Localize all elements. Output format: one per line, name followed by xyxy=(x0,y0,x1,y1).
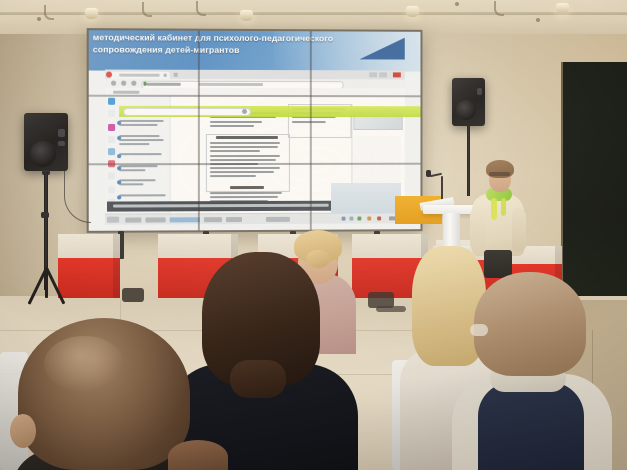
sidebar-item-label-wrap xyxy=(119,124,157,126)
ceiling-spotlight xyxy=(556,3,569,14)
browser-chrome xyxy=(105,70,405,97)
conference-hall-photo: методический кабинет для психолого-педаг… xyxy=(0,0,627,470)
sidebar-item-label xyxy=(119,153,161,155)
start-button[interactable] xyxy=(107,217,119,223)
sidebar-item-1[interactable] xyxy=(119,120,165,128)
pa-speaker-left xyxy=(24,113,68,171)
bookmark-item[interactable] xyxy=(113,90,139,93)
minimize-icon[interactable] xyxy=(369,72,377,77)
tray-icon[interactable] xyxy=(377,216,381,220)
speaker-cone xyxy=(456,100,476,120)
sidebar-item-label xyxy=(119,194,165,197)
pa-speaker-right xyxy=(452,78,485,126)
maximize-icon[interactable] xyxy=(379,72,387,77)
taskbar-item[interactable] xyxy=(226,217,242,222)
search-icon[interactable] xyxy=(242,108,247,113)
audience-elderly-vest xyxy=(452,278,612,470)
sidebar-icon[interactable] xyxy=(108,186,115,193)
favicon-icon xyxy=(105,71,111,77)
sidebar-item-label-wrap xyxy=(119,183,143,185)
sidebar-icon[interactable] xyxy=(108,136,115,143)
sidebar-icon-top[interactable] xyxy=(108,98,115,105)
sidebar-item-4[interactable] xyxy=(119,165,165,173)
sidebar-item-6[interactable] xyxy=(119,194,165,198)
tray-icon[interactable] xyxy=(342,217,346,221)
audience-partial-head xyxy=(168,440,228,470)
close-icon[interactable] xyxy=(164,74,167,77)
panel-bezel-seam xyxy=(198,29,200,233)
address-bar-text xyxy=(146,83,180,86)
plus-icon[interactable] xyxy=(174,72,178,76)
ceiling-spotlight xyxy=(406,6,419,17)
sidebar-icon[interactable] xyxy=(108,148,115,155)
taskbar-item[interactable] xyxy=(125,217,141,222)
taskbar-item[interactable] xyxy=(266,216,290,221)
sidebar-item-label-wrap xyxy=(119,169,145,171)
tray-icon[interactable] xyxy=(367,216,371,220)
taskbar-item[interactable] xyxy=(204,217,222,222)
sidebar-item-label xyxy=(119,165,157,167)
floor-equipment xyxy=(122,288,144,302)
speaker-stand-clamp xyxy=(41,212,49,218)
close-icon[interactable] xyxy=(393,72,401,77)
audience-woman-dark-hair xyxy=(178,256,346,470)
ceiling-spotlight xyxy=(85,8,98,19)
eyeglasses-icon xyxy=(470,324,488,336)
projection-panel xyxy=(331,183,401,213)
speaker-port xyxy=(58,129,65,137)
presenter-sleeve-left xyxy=(470,206,486,252)
ceiling-fixture-dot xyxy=(455,2,459,6)
plinth-block xyxy=(58,234,120,298)
reload-icon[interactable] xyxy=(131,81,136,86)
forward-arrow-icon[interactable] xyxy=(121,81,126,86)
browser-tab[interactable] xyxy=(111,71,170,79)
browser-tab-title xyxy=(119,73,159,76)
sidebar-item-5[interactable] xyxy=(119,179,165,187)
tray-icon[interactable] xyxy=(349,217,353,221)
ceiling-fixture-dot xyxy=(37,17,41,21)
audience-ear xyxy=(10,414,36,448)
sidebar-item-2[interactable] xyxy=(119,135,165,147)
podium-column xyxy=(443,213,460,249)
sidebar-icon[interactable] xyxy=(108,172,115,179)
slide-title-line-1: методический кабинет для психолого-педаг… xyxy=(93,32,344,45)
eyeglasses-icon xyxy=(489,172,510,176)
presenter-sleeve-right xyxy=(512,208,526,252)
sidebar-item-3[interactable] xyxy=(119,153,165,157)
ceiling-hook xyxy=(494,1,504,16)
ceiling-fixture-dot xyxy=(536,18,540,22)
microphone-head xyxy=(426,170,431,177)
lock-icon xyxy=(143,81,146,85)
sidebar-icon[interactable] xyxy=(108,110,115,117)
ceiling-hook xyxy=(196,1,206,16)
microphone-stem xyxy=(441,176,443,200)
ceiling-spotlight xyxy=(240,10,253,21)
floor-cable xyxy=(376,306,406,312)
back-arrow-icon[interactable] xyxy=(111,81,116,86)
slide-triangle-graphic xyxy=(359,37,404,59)
presenter-scarf-tail xyxy=(491,198,497,220)
ceiling-hook xyxy=(142,2,152,17)
os-taskbar xyxy=(105,212,405,224)
sidebar-item-label xyxy=(119,179,155,181)
audience-scalp-highlight xyxy=(44,336,124,392)
sidebar-icon[interactable] xyxy=(108,124,115,131)
audience-hair xyxy=(168,440,228,470)
slide-title: методический кабинет для психолого-педаг… xyxy=(93,32,344,56)
sidebar-item-label-wrap xyxy=(119,139,163,141)
taskbar-item-active[interactable] xyxy=(170,217,200,222)
slide-title-line-2: сопровождения детей-мигрантов xyxy=(93,44,344,57)
audience-vest xyxy=(478,382,584,470)
tray-icon[interactable] xyxy=(357,217,361,221)
cookie-consent-message xyxy=(113,204,329,207)
tripod-leg xyxy=(45,268,48,298)
speaker-port xyxy=(477,88,482,95)
sidebar-item-label-wrap xyxy=(119,143,149,145)
search-input[interactable] xyxy=(123,108,251,116)
speaker-port xyxy=(58,141,65,146)
speaker-cone xyxy=(30,141,56,167)
audience-hair xyxy=(474,272,586,376)
taskbar-item[interactable] xyxy=(145,217,165,222)
presenter-scarf-tail xyxy=(501,198,506,216)
address-bar-suffix xyxy=(199,83,263,86)
sidebar-item-label xyxy=(119,120,163,122)
ceiling-hook xyxy=(44,5,54,20)
panel-bezel-seam xyxy=(310,29,312,231)
audience-hair-tie xyxy=(230,360,286,398)
sidebar-item-label xyxy=(119,135,159,137)
